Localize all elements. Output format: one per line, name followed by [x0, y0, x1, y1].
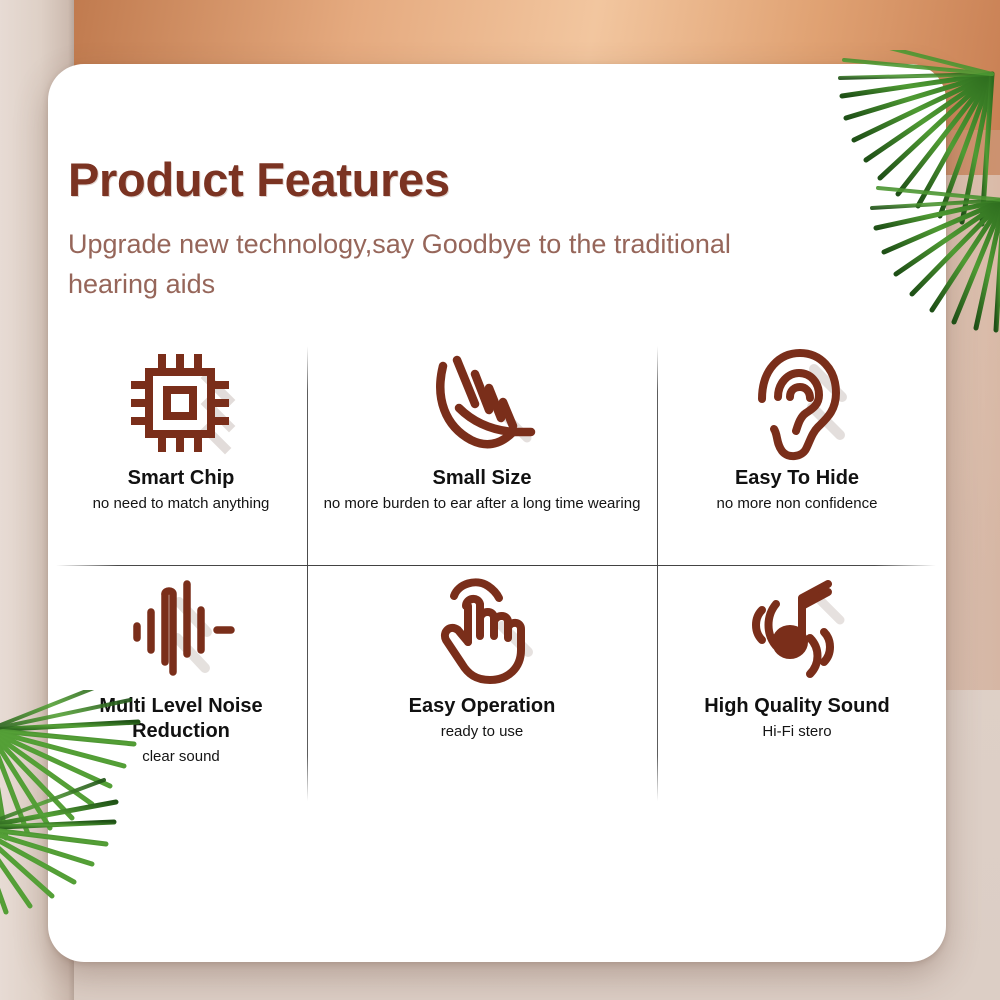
- tap-hand-icon: [308, 572, 656, 692]
- feature-description: no more burden to ear after a long time …: [308, 494, 656, 513]
- feature-description: ready to use: [308, 722, 656, 741]
- feature-item-easy-operation[interactable]: Easy Operation ready to use: [308, 572, 656, 741]
- product-features-infographic: Product Features Upgrade new technology,…: [0, 0, 1000, 1000]
- ear-icon: [658, 344, 936, 464]
- page-subtitle: Upgrade new technology,say Goodbye to th…: [68, 224, 768, 304]
- feature-title: Multi Level Noise Reduction: [56, 694, 306, 744]
- chip-icon: [56, 344, 306, 464]
- feather-icon: [308, 344, 656, 464]
- feature-item-small-size[interactable]: Small Size no more burden to ear after a…: [308, 344, 656, 513]
- features-grid: Smart Chip no need to match anything: [56, 338, 936, 808]
- page-title: Product Features: [68, 152, 450, 207]
- feature-item-smart-chip[interactable]: Smart Chip no need to match anything: [56, 344, 306, 513]
- feature-description: Hi-Fi stero: [658, 722, 936, 741]
- sound-wave-icon: [56, 572, 306, 692]
- feature-description: no need to match anything: [56, 494, 306, 513]
- feature-title: Small Size: [308, 466, 656, 491]
- feature-item-easy-to-hide[interactable]: Easy To Hide no more non confidence: [658, 344, 936, 513]
- feature-title: Smart Chip: [56, 466, 306, 491]
- feature-item-high-quality-sound[interactable]: High Quality Sound Hi-Fi stero: [658, 572, 936, 741]
- music-note-icon: [658, 572, 936, 692]
- grid-divider-horizontal: [56, 565, 936, 566]
- feature-title: High Quality Sound: [658, 694, 936, 719]
- feature-item-noise-reduction[interactable]: Multi Level Noise Reduction clear sound: [56, 572, 306, 766]
- feature-title: Easy Operation: [308, 694, 656, 719]
- feature-description: no more non confidence: [658, 494, 936, 513]
- feature-description: clear sound: [56, 747, 306, 766]
- feature-title: Easy To Hide: [658, 466, 936, 491]
